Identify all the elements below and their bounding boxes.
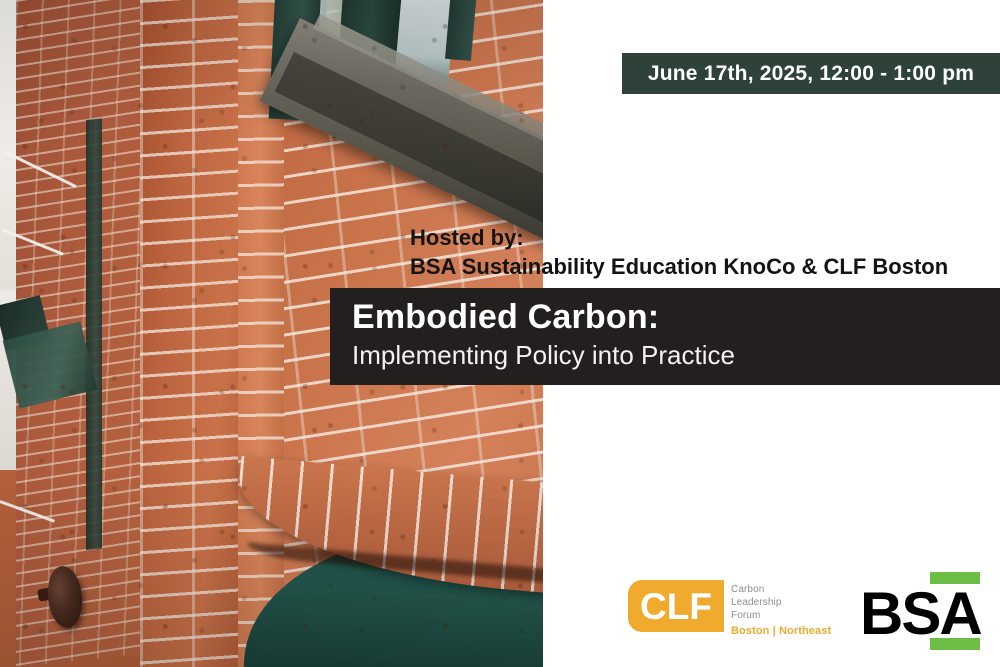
logo-row: CLF Carbon Leadership Forum Boston | Nor… [628,568,988,654]
promo-graphic-canvas: June 17th, 2025, 12:00 - 1:00 pm Hosted … [0,0,1000,667]
bsa-green-bar-bottom [930,638,980,650]
clf-word-line1: Carbon [731,583,831,596]
event-title: Embodied Carbon: [352,298,659,337]
clf-monogram-mark: CLF [628,580,724,632]
event-date-banner: June 17th, 2025, 12:00 - 1:00 pm [622,53,1000,94]
clf-logo: CLF Carbon Leadership Forum Boston | Nor… [628,580,831,637]
hosted-by-organizations: BSA Sustainability Education KnoCo & CLF… [410,253,994,282]
clf-monogram-text: CLF [640,588,712,625]
clf-word-line3: Forum [731,609,831,622]
clf-region-label: Boston | Northeast [731,625,831,637]
event-subtitle: Implementing Policy into Practice [352,340,735,371]
event-title-block: Embodied Carbon: Implementing Policy int… [330,288,1000,385]
bsa-logo: BSA [860,568,980,654]
event-date-text: June 17th, 2025, 12:00 - 1:00 pm [648,62,974,86]
bsa-monogram-text: BSA [860,584,981,644]
hosted-by-block: Hosted by: BSA Sustainability Education … [410,224,994,281]
clf-wordmark: Carbon Leadership Forum Boston | Northea… [731,580,831,637]
clf-word-line2: Leadership [731,596,831,609]
hosted-by-label: Hosted by: [410,224,994,253]
